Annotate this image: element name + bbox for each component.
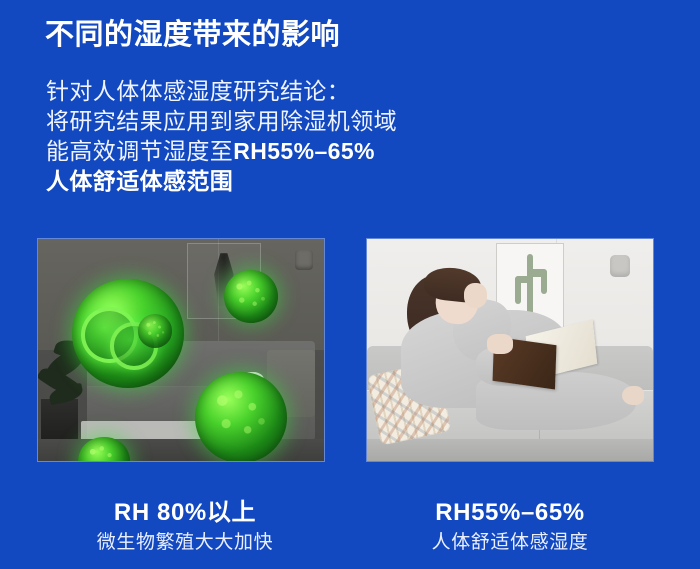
intro-line-1: 针对人体体感湿度研究结论： bbox=[46, 76, 397, 106]
woman-hand-on-book bbox=[487, 334, 513, 354]
caption-right-title: RH55%–65% bbox=[370, 498, 650, 528]
intro-line-3-prefix: 能高效调节湿度至 bbox=[46, 138, 233, 164]
intro-line-2: 将研究结果应用到家用除湿机领域 bbox=[46, 106, 397, 136]
wall-speaker-icon bbox=[610, 255, 630, 277]
dark-living-room-scene bbox=[38, 239, 324, 461]
germ-sphere bbox=[195, 372, 287, 461]
intro-paragraph: 针对人体体感湿度研究结论： 将研究结果应用到家用除湿机领域 能高效调节湿度至RH… bbox=[46, 76, 397, 196]
sofa-base bbox=[367, 439, 653, 461]
germ-sphere bbox=[138, 314, 172, 347]
bright-living-room-scene bbox=[367, 239, 653, 461]
photo-comfort-humidity bbox=[366, 238, 654, 462]
cactus-art bbox=[527, 254, 533, 317]
intro-line-3: 能高效调节湿度至RH55%–65% bbox=[46, 136, 397, 166]
intro-line-3-range: RH55%–65% bbox=[233, 138, 375, 164]
promo-page: { "theme": { "background_color": "#1248c… bbox=[0, 0, 700, 569]
cactus-arm-right-up bbox=[541, 269, 547, 294]
cactus-arm-left-up bbox=[515, 276, 521, 304]
woman-hand-at-face bbox=[464, 283, 487, 307]
intro-line-4: 人体舒适体感范围 bbox=[46, 166, 397, 196]
woman-foot bbox=[622, 386, 645, 406]
caption-left-subtitle: 微生物繁殖大大加快 bbox=[45, 530, 325, 556]
caption-right-subtitle: 人体舒适体感湿度 bbox=[370, 530, 650, 556]
photo-high-humidity bbox=[37, 238, 325, 462]
comparison-photo-row bbox=[0, 238, 700, 464]
wall-speaker-icon bbox=[295, 250, 313, 270]
page-title: 不同的湿度带来的影响 bbox=[45, 17, 340, 53]
caption-high-humidity: RH 80%以上 微生物繁殖大大加快 bbox=[45, 498, 325, 556]
caption-comfort-humidity: RH55%–65% 人体舒适体感湿度 bbox=[370, 498, 650, 556]
caption-left-title: RH 80%以上 bbox=[45, 498, 325, 528]
